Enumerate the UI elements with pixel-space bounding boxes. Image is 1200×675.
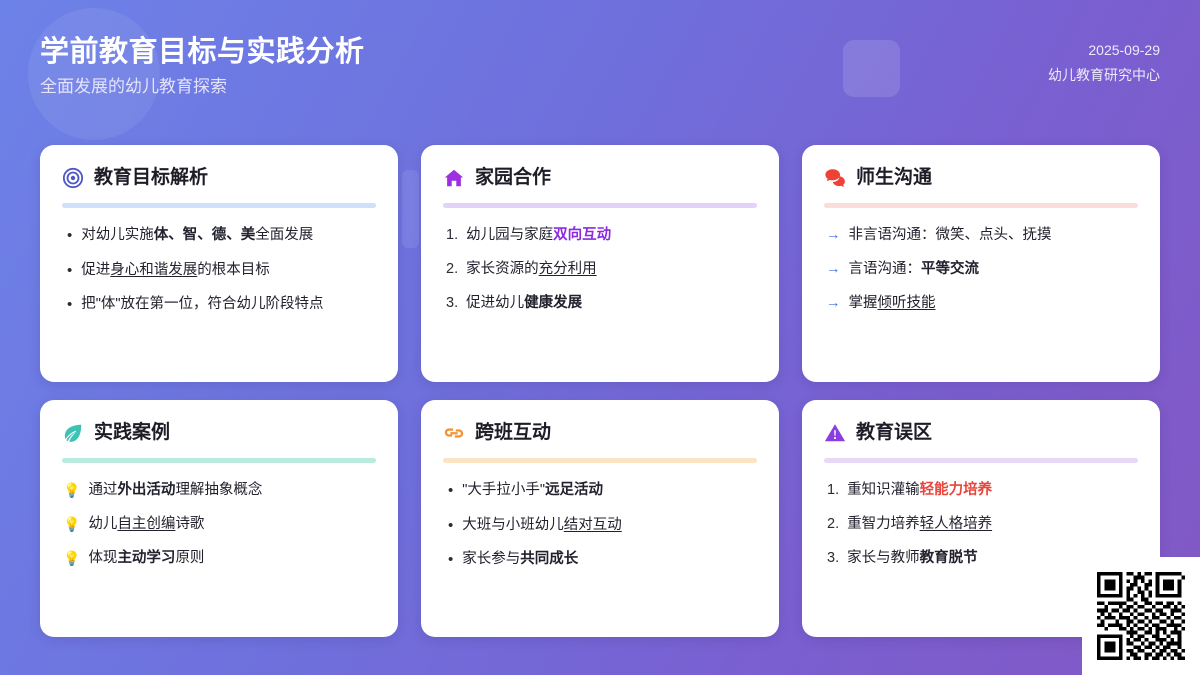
list-item-text: 家长参与共同成长 xyxy=(462,549,578,570)
chat-bubbles-icon xyxy=(824,167,846,189)
list-number: 2. xyxy=(446,259,458,280)
title-block: 学前教育目标与实践分析 全面发展的幼儿教育探索 xyxy=(40,34,365,98)
card-header: 教育目标解析 xyxy=(62,167,376,190)
bullet-dot: • xyxy=(448,480,453,502)
list-item-text: 重智力培养轻人格培养 xyxy=(847,514,992,535)
list-item-text: 对幼儿实施体、智、德、美全面发展 xyxy=(81,225,313,246)
list-item: •大班与小班幼儿结对互动 xyxy=(443,515,757,537)
list-item-text: 大班与小班幼儿结对互动 xyxy=(462,515,622,536)
page-subtitle: 全面发展的幼儿教育探索 xyxy=(40,76,365,98)
lightbulb-icon: 💡 xyxy=(63,514,80,534)
home-icon xyxy=(443,167,465,189)
card-title: 家园合作 xyxy=(475,167,551,190)
list-item: •促进身心和谐发展的根本目标 xyxy=(62,260,376,282)
list-item: 3.促进幼儿健康发展 xyxy=(443,293,757,314)
list-item-text: 重知识灌输轻能力培养 xyxy=(847,480,992,501)
list-item: →言语沟通：平等交流 xyxy=(824,259,1138,280)
slide-header: 学前教育目标与实践分析 全面发展的幼儿教育探索 2025-09-29 幼儿教育研… xyxy=(0,0,1200,132)
card-title: 教育目标解析 xyxy=(94,167,208,190)
list-number: 1. xyxy=(446,225,458,246)
list-item: 1.重知识灌输轻能力培养 xyxy=(824,480,1138,501)
bullet-dot: • xyxy=(67,294,72,316)
list-item: •家长参与共同成长 xyxy=(443,549,757,571)
card-item-list: •"大手拉小手"远足活动•大班与小班幼儿结对互动•家长参与共同成长 xyxy=(443,480,757,571)
arrow-icon: → xyxy=(826,259,841,280)
leaf-icon xyxy=(62,422,84,444)
card-home-school-cooperation: 家园合作1.幼儿园与家庭双向互动2.家长资源的充分利用3.促进幼儿健康发展 xyxy=(421,145,779,382)
card-item-list: •对幼儿实施体、智、德、美全面发展•促进身心和谐发展的根本目标•把"体"放在第一… xyxy=(62,225,376,316)
qr-code[interactable] xyxy=(1097,572,1185,660)
list-item-text: 幼儿园与家庭双向互动 xyxy=(466,225,611,246)
card-divider xyxy=(62,458,376,463)
card-practice-cases: 实践案例💡通过外出活动理解抽象概念💡幼儿自主创编诗歌💡体现主动学习原则 xyxy=(40,400,398,637)
card-cross-class-interaction: 跨班互动•"大手拉小手"远足活动•大班与小班幼儿结对互动•家长参与共同成长 xyxy=(421,400,779,637)
header-organization: 幼儿教育研究中心 xyxy=(1048,65,1160,86)
list-item: 2.家长资源的充分利用 xyxy=(443,259,757,280)
list-item: →掌握倾听技能 xyxy=(824,293,1138,314)
list-number: 2. xyxy=(827,514,839,535)
card-item-list: 1.幼儿园与家庭双向互动2.家长资源的充分利用3.促进幼儿健康发展 xyxy=(443,225,757,314)
list-item: 2.重智力培养轻人格培养 xyxy=(824,514,1138,535)
card-divider xyxy=(443,203,757,208)
card-title: 教育误区 xyxy=(856,422,932,445)
arrow-icon: → xyxy=(826,225,841,246)
handshake-icon xyxy=(443,422,465,444)
list-number: 1. xyxy=(827,480,839,501)
card-item-list: →非言语沟通：微笑、点头、抚摸→言语沟通：平等交流→掌握倾听技能 xyxy=(824,225,1138,314)
list-item-text: 家长与教师教育脱节 xyxy=(847,548,978,569)
card-title: 实践案例 xyxy=(94,422,170,445)
card-divider xyxy=(824,458,1138,463)
card-divider xyxy=(62,203,376,208)
list-item-text: 通过外出活动理解抽象概念 xyxy=(88,480,262,501)
card-title: 师生沟通 xyxy=(856,167,932,190)
list-item-text: 促进幼儿健康发展 xyxy=(466,293,582,314)
qr-panel xyxy=(1082,557,1200,675)
lightbulb-icon: 💡 xyxy=(63,548,80,568)
list-item-text: "大手拉小手"远足活动 xyxy=(462,480,603,501)
slide-root: 学前教育目标与实践分析 全面发展的幼儿教育探索 2025-09-29 幼儿教育研… xyxy=(0,0,1200,675)
card-education-goals: 教育目标解析•对幼儿实施体、智、德、美全面发展•促进身心和谐发展的根本目标•把"… xyxy=(40,145,398,382)
card-header: 实践案例 xyxy=(62,422,376,445)
header-date: 2025-09-29 xyxy=(1048,40,1160,61)
list-item-text: 体现主动学习原则 xyxy=(88,548,204,569)
warning-triangle-icon xyxy=(824,422,846,444)
card-title: 跨班互动 xyxy=(475,422,551,445)
page-title: 学前教育目标与实践分析 xyxy=(40,34,365,70)
list-item-text: 非言语沟通：微笑、点头、抚摸 xyxy=(849,225,1052,246)
list-item: •"大手拉小手"远足活动 xyxy=(443,480,757,502)
bullet-dot: • xyxy=(448,549,453,571)
card-item-list: 💡通过外出活动理解抽象概念💡幼儿自主创编诗歌💡体现主动学习原则 xyxy=(62,480,376,569)
list-item: 💡幼儿自主创编诗歌 xyxy=(62,514,376,535)
list-item: →非言语沟通：微笑、点头、抚摸 xyxy=(824,225,1138,246)
bullet-dot: • xyxy=(67,260,72,282)
list-item-text: 掌握倾听技能 xyxy=(849,293,936,314)
bullet-dot: • xyxy=(448,515,453,537)
list-number: 3. xyxy=(446,293,458,314)
card-divider xyxy=(443,458,757,463)
list-item: •把"体"放在第一位，符合幼儿阶段特点 xyxy=(62,294,376,316)
card-divider xyxy=(824,203,1138,208)
card-header: 跨班互动 xyxy=(443,422,757,445)
lightbulb-icon: 💡 xyxy=(63,480,80,500)
header-meta: 2025-09-29 幼儿教育研究中心 xyxy=(1048,40,1160,86)
arrow-icon: → xyxy=(826,293,841,314)
bullet-dot: • xyxy=(67,225,72,247)
list-item: 💡通过外出活动理解抽象概念 xyxy=(62,480,376,501)
list-number: 3. xyxy=(827,548,839,569)
list-item-text: 言语沟通：平等交流 xyxy=(849,259,980,280)
list-item: 💡体现主动学习原则 xyxy=(62,548,376,569)
target-icon xyxy=(62,167,84,189)
list-item-text: 家长资源的充分利用 xyxy=(466,259,597,280)
card-teacher-student-communication: 师生沟通→非言语沟通：微笑、点头、抚摸→言语沟通：平等交流→掌握倾听技能 xyxy=(802,145,1160,382)
card-header: 师生沟通 xyxy=(824,167,1138,190)
list-item: 1.幼儿园与家庭双向互动 xyxy=(443,225,757,246)
card-grid: 教育目标解析•对幼儿实施体、智、德、美全面发展•促进身心和谐发展的根本目标•把"… xyxy=(40,145,1160,637)
list-item-text: 把"体"放在第一位，符合幼儿阶段特点 xyxy=(81,294,323,315)
list-item-text: 促进身心和谐发展的根本目标 xyxy=(81,260,270,281)
card-header: 教育误区 xyxy=(824,422,1138,445)
card-header: 家园合作 xyxy=(443,167,757,190)
list-item-text: 幼儿自主创编诗歌 xyxy=(88,514,204,535)
card-item-list: 1.重知识灌输轻能力培养2.重智力培养轻人格培养3.家长与教师教育脱节 xyxy=(824,480,1138,569)
list-item: •对幼儿实施体、智、德、美全面发展 xyxy=(62,225,376,247)
